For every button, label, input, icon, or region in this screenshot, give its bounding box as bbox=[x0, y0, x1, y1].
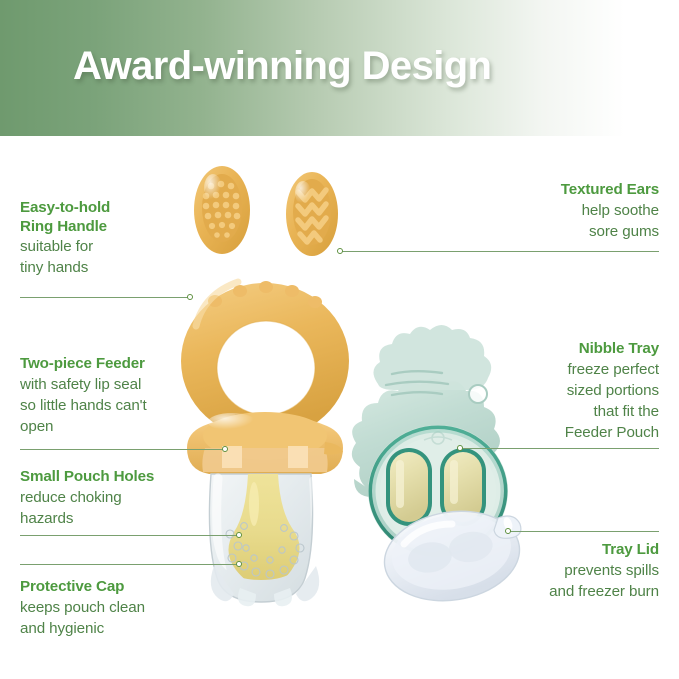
callout-two-piece-feeder-body-2: so little hands can't bbox=[20, 395, 147, 416]
callout-two-piece-feeder-body-3: open bbox=[20, 416, 147, 437]
food-portion-left bbox=[386, 448, 432, 526]
callout-nibble-tray-body-2: sized portions bbox=[565, 380, 659, 401]
leader-dot-textured-ears bbox=[337, 248, 343, 254]
callout-protective-cap: Protective Cap keeps pouch clean and hyg… bbox=[20, 578, 145, 639]
callout-protective-cap-heading-1: Protective Cap bbox=[20, 578, 145, 597]
callout-ring-handle-heading-1: Easy-to-hold bbox=[20, 199, 110, 218]
right-ear-textured bbox=[286, 172, 338, 256]
fruit-feeder-graphic: haakaa bbox=[181, 166, 349, 606]
callout-nibble-tray-body-4: Feeder Pouch bbox=[565, 422, 659, 443]
callout-nibble-tray-heading-1: Nibble Tray bbox=[565, 340, 659, 359]
callout-two-piece-feeder-heading-1: Two-piece Feeder bbox=[20, 355, 147, 374]
leader-dot-tray-lid bbox=[505, 528, 511, 534]
callout-textured-ears-heading-1: Textured Ears bbox=[561, 181, 659, 200]
leader-line-tray-lid bbox=[508, 531, 659, 532]
callout-tray-lid-body-2: and freezer burn bbox=[549, 581, 659, 602]
feeder-cap-body bbox=[187, 412, 343, 474]
callout-protective-cap-body-2: and hygienic bbox=[20, 618, 145, 639]
callout-ring-handle: Easy-to-hold Ring Handle suitable for ti… bbox=[20, 199, 110, 278]
left-ear-textured bbox=[194, 166, 250, 254]
callout-nibble-tray-body-3: that fit the bbox=[565, 401, 659, 422]
leader-line-nibble-tray bbox=[460, 448, 659, 449]
callout-protective-cap-body-1: keeps pouch clean bbox=[20, 597, 145, 618]
callout-small-pouch-holes-body-2: hazards bbox=[20, 508, 154, 529]
page-title: Award-winning Design bbox=[73, 44, 491, 89]
callout-nibble-tray-body-1: freeze perfect bbox=[565, 359, 659, 380]
callout-tray-lid: Tray Lid prevents spills and freezer bur… bbox=[549, 541, 659, 602]
callout-ring-handle-body-2: tiny hands bbox=[20, 257, 110, 278]
callout-ring-handle-heading-2: Ring Handle bbox=[20, 218, 110, 237]
leader-dot-two-piece-feeder bbox=[222, 446, 228, 452]
leader-line-protective-cap bbox=[20, 564, 239, 565]
callout-nibble-tray: Nibble Tray freeze perfect sized portion… bbox=[565, 340, 659, 443]
header-banner: Award-winning Design bbox=[0, 0, 679, 136]
leader-dot-small-pouch-holes bbox=[236, 532, 242, 538]
callout-small-pouch-holes-body-1: reduce choking bbox=[20, 487, 154, 508]
leader-dot-protective-cap bbox=[236, 561, 242, 567]
leader-dot-nibble-tray bbox=[457, 445, 463, 451]
callout-ring-handle-body-1: suitable for bbox=[20, 236, 110, 257]
leader-line-ring-handle bbox=[20, 297, 190, 298]
callout-small-pouch-holes-heading-1: Small Pouch Holes bbox=[20, 468, 154, 487]
callout-textured-ears-body-1: help soothe bbox=[561, 200, 659, 221]
callout-textured-ears: Textured Ears help soothe sore gums bbox=[561, 181, 659, 242]
callout-tray-lid-body-1: prevents spills bbox=[549, 560, 659, 581]
callout-two-piece-feeder-body-1: with safety lip seal bbox=[20, 374, 147, 395]
leader-line-two-piece-feeder bbox=[20, 449, 225, 450]
protective-cap bbox=[209, 474, 319, 606]
leader-line-textured-ears bbox=[340, 251, 659, 252]
leader-line-small-pouch-holes bbox=[20, 535, 239, 536]
callout-tray-lid-heading-1: Tray Lid bbox=[549, 541, 659, 560]
callout-textured-ears-body-2: sore gums bbox=[561, 221, 659, 242]
callout-small-pouch-holes: Small Pouch Holes reduce choking hazards bbox=[20, 468, 154, 529]
callout-two-piece-feeder: Two-piece Feeder with safety lip seal so… bbox=[20, 355, 147, 437]
leader-dot-ring-handle bbox=[187, 294, 193, 300]
